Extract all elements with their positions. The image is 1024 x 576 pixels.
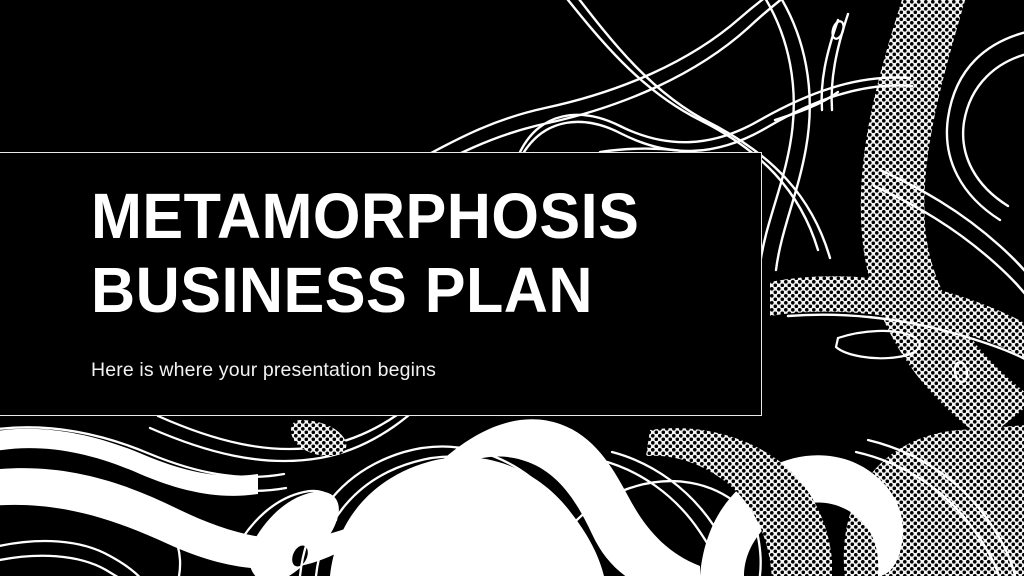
presentation-slide: METAMORPHOSIS BUSINESS PLAN Here is wher… xyxy=(0,0,1024,576)
title-block: METAMORPHOSIS BUSINESS PLAN Here is wher… xyxy=(91,179,743,383)
slide-subtitle: Here is where your presentation begins xyxy=(91,357,743,383)
slide-title-line-2: BUSINESS PLAN xyxy=(91,253,714,327)
title-card: METAMORPHOSIS BUSINESS PLAN Here is wher… xyxy=(0,152,762,416)
slide-title-line-1: METAMORPHOSIS xyxy=(91,179,714,253)
